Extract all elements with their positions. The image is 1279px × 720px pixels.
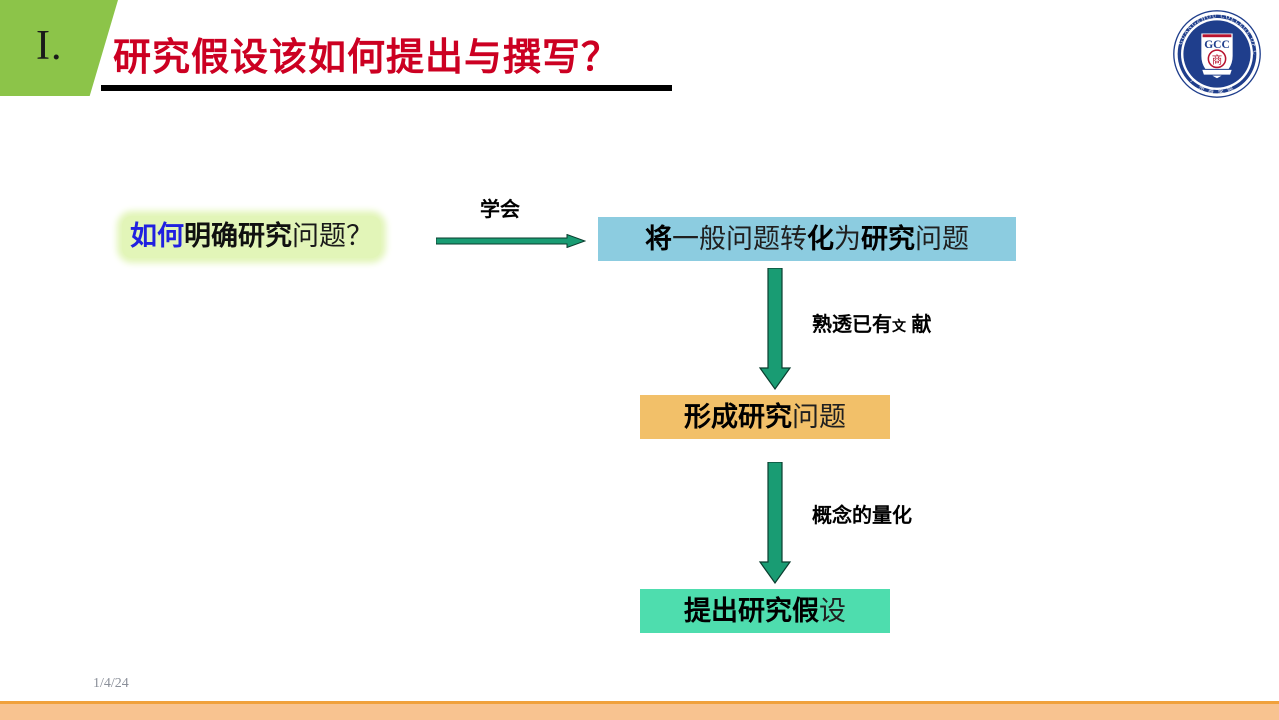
- flow-question-label: 如何明确研究问题？: [122, 216, 381, 258]
- node-transform-seg1: 将: [645, 222, 672, 256]
- edge-lit-part1: 熟透已有: [812, 314, 892, 336]
- arrow-right-to-transform: [436, 234, 586, 248]
- question-seg-problem: 问题？: [292, 221, 373, 251]
- node-hypothesis-seg2: 设: [819, 594, 846, 628]
- node-form-seg2: 问题: [792, 400, 846, 434]
- edge-label-quantification: 概念的量化: [812, 504, 912, 528]
- node-transform-seg6: 问题: [915, 222, 969, 256]
- arrow-down-to-form-question: [755, 268, 795, 390]
- edge-label-learn: 学会: [480, 198, 520, 222]
- footer-band: [0, 704, 1279, 720]
- node-transform-seg4: 为: [834, 222, 861, 256]
- edge-label-literature: 熟透已有文 献: [812, 313, 932, 338]
- slide-canvas: I. 研究假设该如何提出与撰写？ GCC 商 GUANGZHOU COLLEGE…: [0, 0, 1279, 720]
- edge-lit-part2: 献: [906, 314, 932, 336]
- flowchart: 如何明确研究问题？ 学会 将一般问题转化为研究问题 熟透已有文 献 形成研究问题…: [0, 0, 1279, 720]
- edge-lit-part-tiny: 文: [892, 318, 906, 334]
- node-hypothesis-seg1: 提出研究假: [684, 594, 819, 628]
- flow-node-form-question: 形成研究问题: [640, 395, 890, 439]
- node-transform-seg5: 研究: [861, 222, 915, 256]
- flow-node-hypothesis: 提出研究假设: [640, 589, 890, 633]
- node-transform-seg2: 一般问题转: [672, 222, 807, 256]
- slide-date: 1/4/24: [93, 676, 129, 692]
- flow-node-transform: 将一般问题转化为研究问题: [598, 217, 1016, 261]
- node-transform-seg3: 化: [807, 222, 834, 256]
- node-form-seg1: 形成研究: [684, 400, 792, 434]
- question-seg-how: 如何: [130, 221, 184, 251]
- arrow-down-to-hypothesis: [755, 462, 795, 584]
- question-seg-clarify: 明确研究: [184, 221, 292, 251]
